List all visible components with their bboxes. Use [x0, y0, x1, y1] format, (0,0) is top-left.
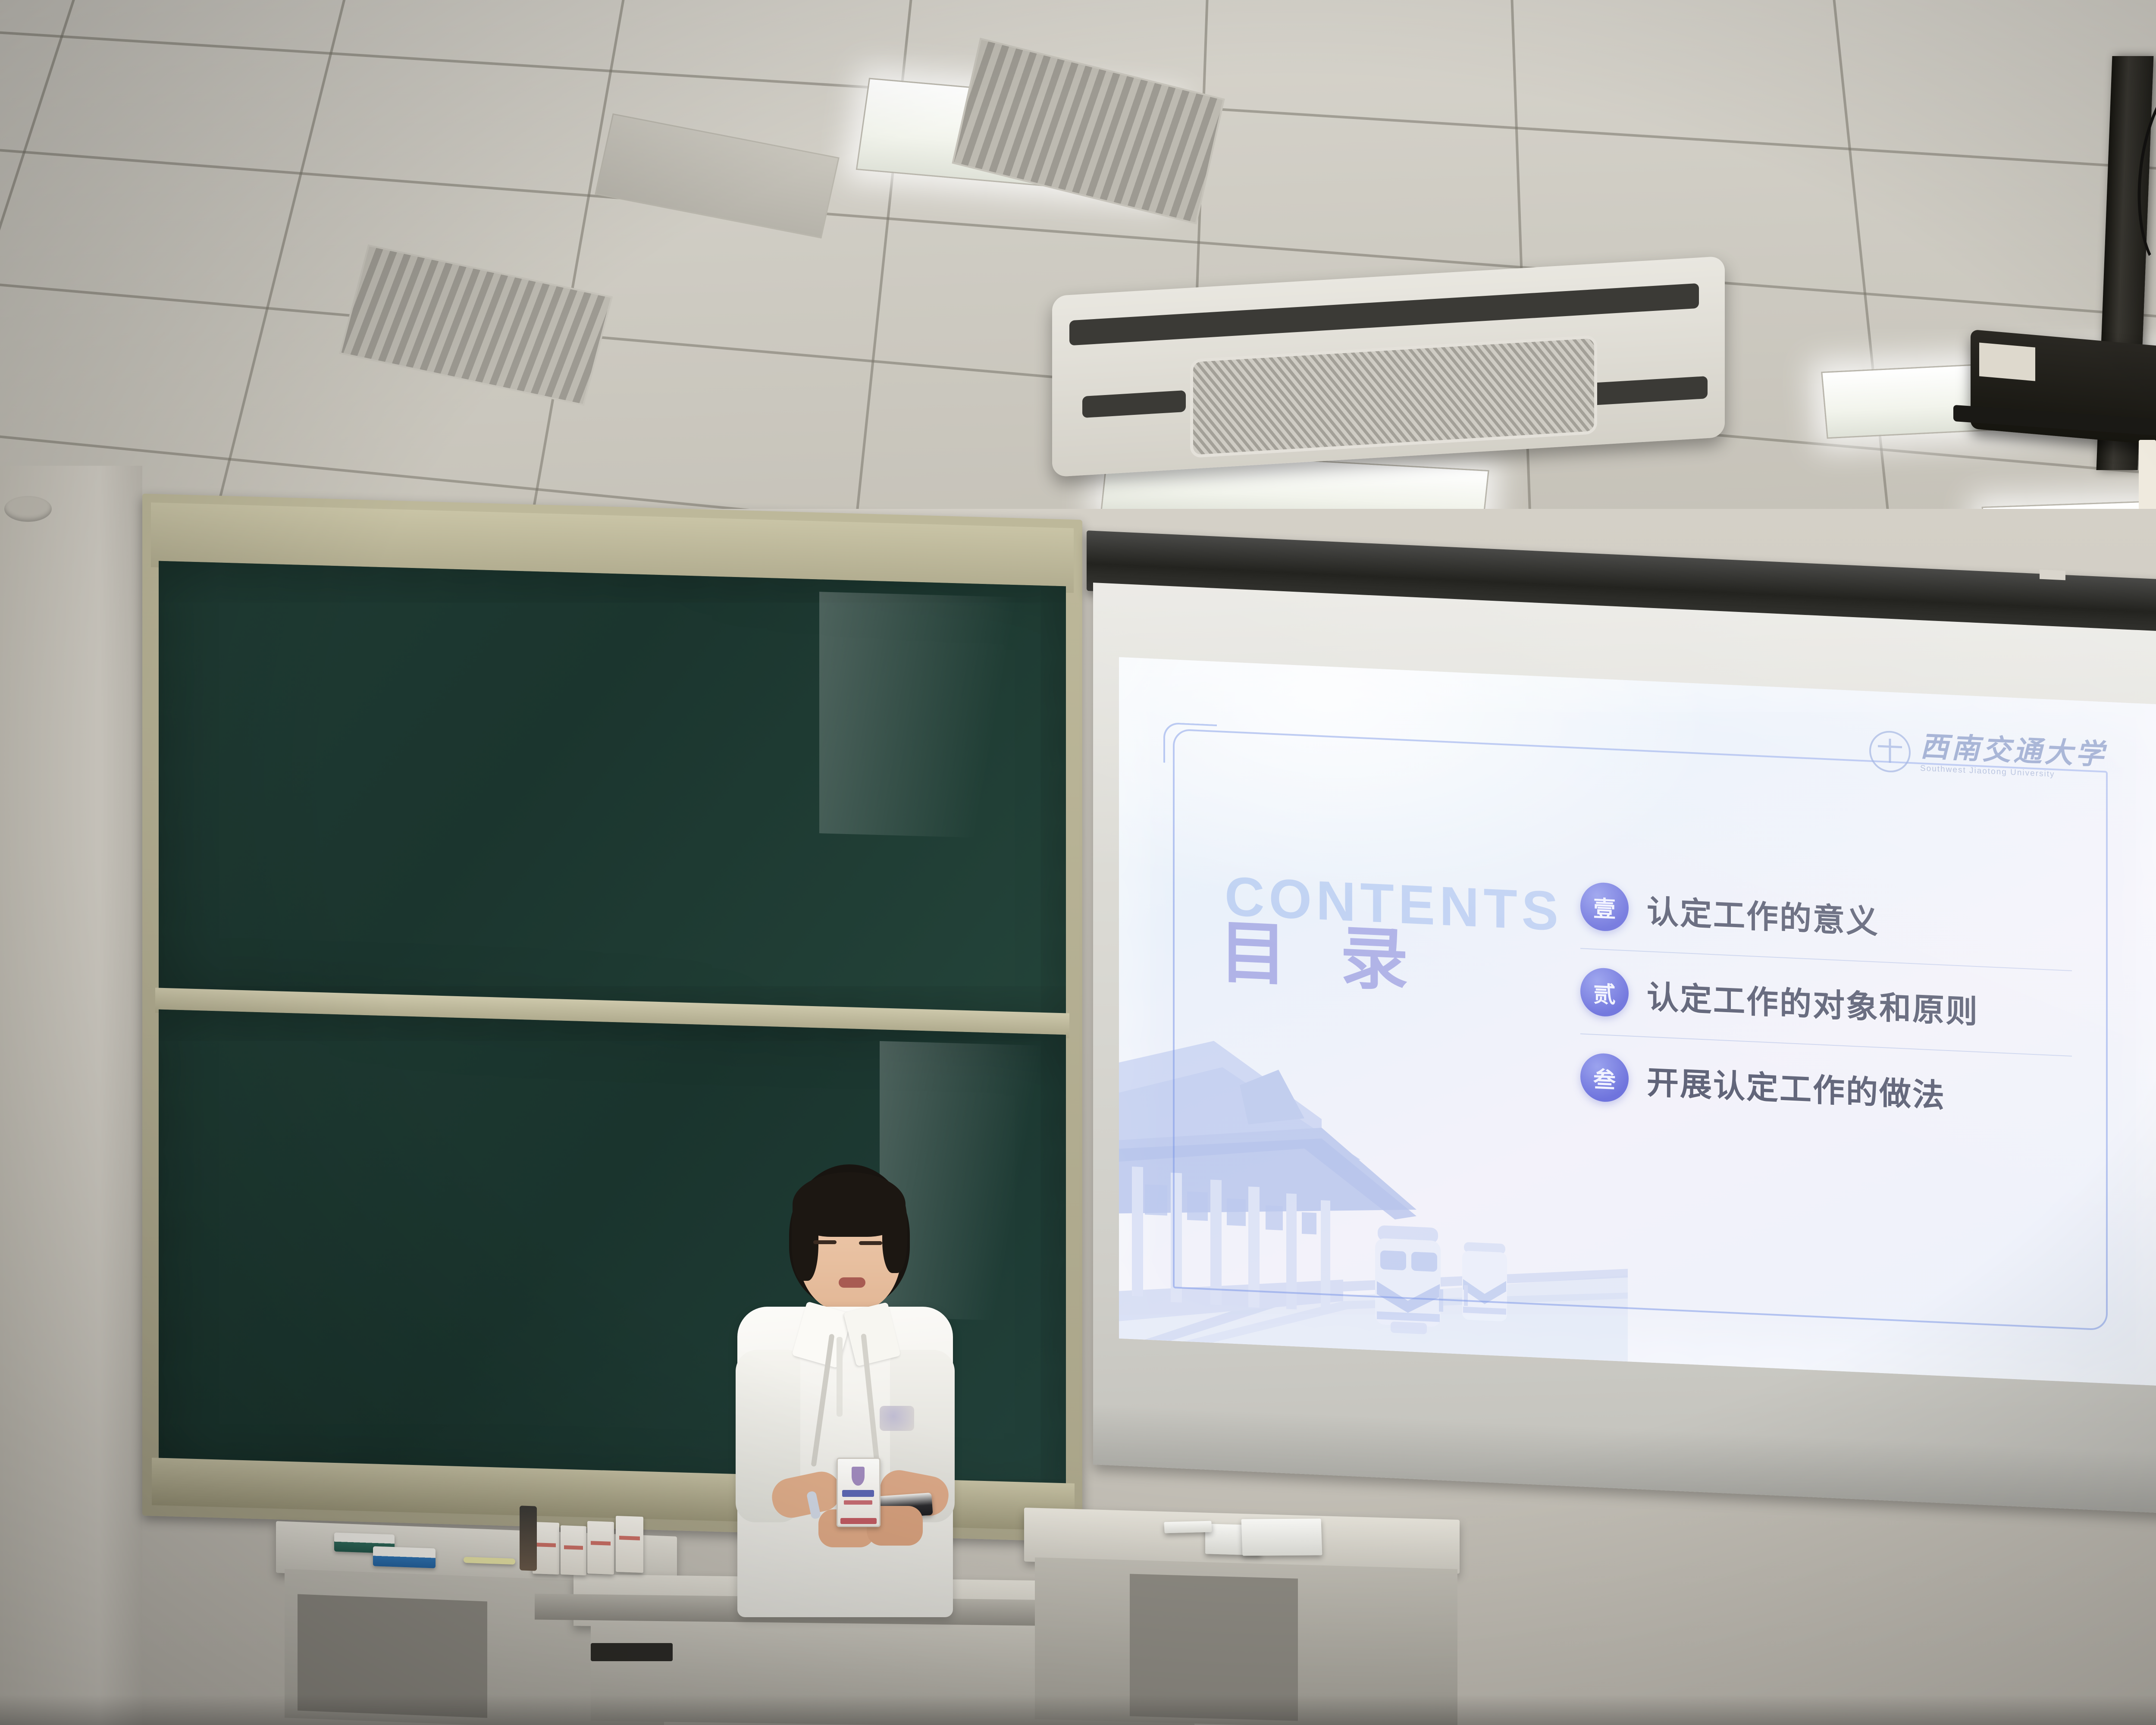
carton-stripe — [619, 1536, 640, 1540]
presenter-eye — [859, 1241, 882, 1245]
presenter-hair-side — [792, 1190, 818, 1281]
presenter — [707, 1164, 983, 1617]
paper-stack[interactable] — [1241, 1518, 1322, 1556]
table-of-contents: 壹 认定工作的意义 贰 认定工作的对象和原则 叁 开展认定工作的做法 — [1580, 863, 2072, 1141]
projection-screen-surface[interactable]: 西南交通大学 Southwest Jiaotong University CON… — [1093, 583, 2156, 1515]
toc-badge-3: 叁 — [1580, 1052, 1629, 1103]
projector-label — [1979, 342, 2035, 381]
carton-stripe — [591, 1541, 611, 1546]
presenter-shirt-placket — [837, 1337, 843, 1417]
medicine-carton[interactable] — [616, 1516, 643, 1573]
badge-name-line — [842, 1490, 874, 1497]
presenter-eye — [813, 1240, 837, 1244]
screen-brand-badge — [2040, 570, 2065, 580]
presenter-mouth — [839, 1277, 865, 1288]
toc-label-1: 认定工作的意义 — [1647, 886, 1879, 942]
equipment-podium-label — [591, 1643, 673, 1661]
badge-logo-icon — [852, 1467, 865, 1486]
toc-badge-1: 壹 — [1580, 881, 1629, 932]
chalkboard-upper-panel[interactable] — [159, 561, 1066, 1022]
university-seal-icon — [1869, 730, 1911, 773]
presenter-hair-side — [882, 1191, 907, 1273]
university-name-cn: 西南交通大学 — [1920, 733, 2106, 770]
carton-stripe — [564, 1545, 583, 1550]
slide-heading-chinese: 目 录 — [1219, 897, 1423, 1004]
left-wall-pillar — [0, 466, 142, 1725]
floor-shadow — [0, 1695, 2156, 1725]
dark-bottle[interactable] — [520, 1505, 537, 1571]
louvered-light-fixture — [339, 245, 613, 406]
presenter-shirt-logo — [880, 1406, 914, 1431]
toc-label-2: 认定工作的对象和原则 — [1647, 971, 1979, 1032]
classroom-scene: 西南交通大学 Southwest Jiaotong University CON… — [0, 0, 2156, 1725]
chalkboard-eraser[interactable] — [373, 1546, 436, 1568]
badge-footer-band — [840, 1518, 877, 1524]
projected-slide[interactable]: 西南交通大学 Southwest Jiaotong University CON… — [1119, 657, 2156, 1386]
medicine-carton[interactable] — [561, 1525, 586, 1575]
medicine-carton[interactable] — [587, 1521, 614, 1574]
sprinkler-head — [4, 496, 52, 522]
carton-stripe — [536, 1543, 556, 1547]
presenter-id-badge[interactable] — [837, 1458, 881, 1527]
toc-badge-2: 贰 — [1580, 967, 1629, 1017]
toc-label-3: 开展认定工作的做法 — [1647, 1057, 1946, 1116]
louvered-light-fixture — [952, 38, 1225, 224]
badge-subtitle-line — [844, 1500, 872, 1505]
paper-sheet[interactable] — [1164, 1521, 1212, 1534]
ceiling-light-panel-off — [595, 113, 840, 238]
